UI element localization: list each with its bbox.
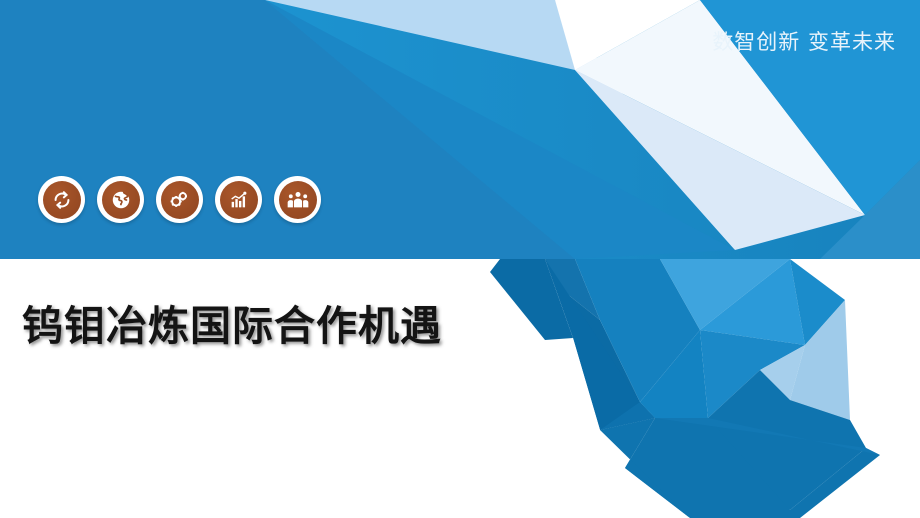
- globe-icon: [102, 181, 140, 219]
- page-title: 钨钼冶炼国际合作机遇: [22, 292, 442, 352]
- icon-badge-gears[interactable]: [156, 176, 203, 223]
- gears-icon: [161, 181, 199, 219]
- slide-tagline: 数智创新 变革未来: [712, 26, 896, 56]
- icon-badge-globe[interactable]: [97, 176, 144, 223]
- icon-badge-row: [38, 176, 321, 223]
- icon-badge-recycle[interactable]: [38, 176, 85, 223]
- icon-badge-people[interactable]: [274, 176, 321, 223]
- icon-badge-bar-chart[interactable]: [215, 176, 262, 223]
- bar-chart-icon: [220, 181, 258, 219]
- presentation-slide: 数智创新 变革未来: [0, 0, 920, 518]
- people-group-icon: [279, 181, 317, 219]
- recycle-arrows-icon: [43, 181, 81, 219]
- geometric-background-graphic: [0, 0, 920, 518]
